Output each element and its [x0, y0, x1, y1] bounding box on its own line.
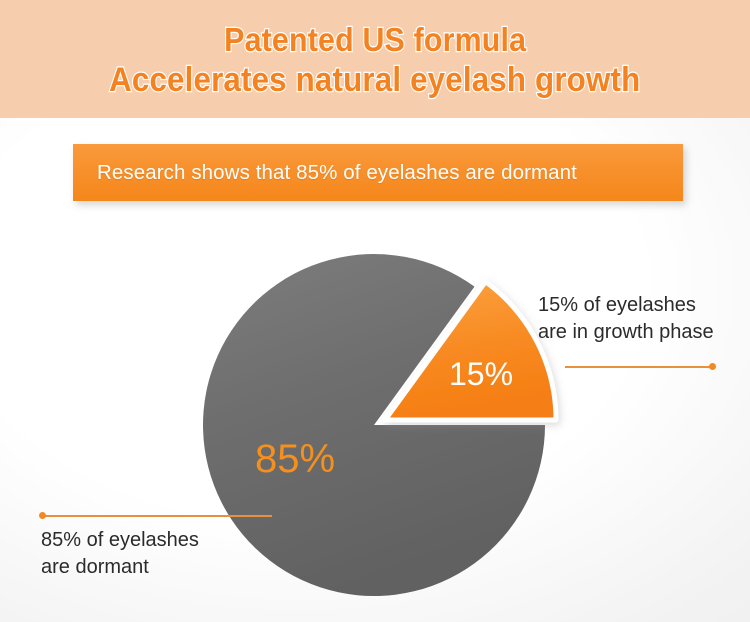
callout-dormant: 85% of eyelashes are dormant	[41, 527, 199, 581]
header-title-line-2: Accelerates natural eyelash growth	[109, 60, 640, 100]
header-band: Patented US formula Accelerates natural …	[0, 0, 750, 118]
callout-growth-leader-line	[565, 366, 713, 368]
callout-growth: 15% of eyelashes are in growth phase	[538, 292, 714, 346]
research-banner-text: Research shows that 85% of eyelashes are…	[97, 161, 577, 185]
header-title-line-1: Patented US formula	[224, 20, 526, 60]
callout-growth-line-1: 15% of eyelashes	[538, 292, 714, 319]
infographic-root: Patented US formula Accelerates natural …	[0, 0, 750, 622]
pie-label-dormant-value: 85%	[255, 437, 335, 482]
callout-dormant-line-1: 85% of eyelashes	[41, 527, 199, 554]
pie-label-growth-value: 15%	[449, 356, 513, 393]
callout-dormant-line-2: are dormant	[41, 554, 199, 581]
callout-growth-line-2: are in growth phase	[538, 319, 714, 346]
callout-dormant-leader-dot	[39, 512, 46, 519]
research-banner: Research shows that 85% of eyelashes are…	[73, 144, 683, 201]
callout-dormant-leader-line	[42, 515, 272, 517]
callout-growth-leader-dot	[709, 363, 716, 370]
